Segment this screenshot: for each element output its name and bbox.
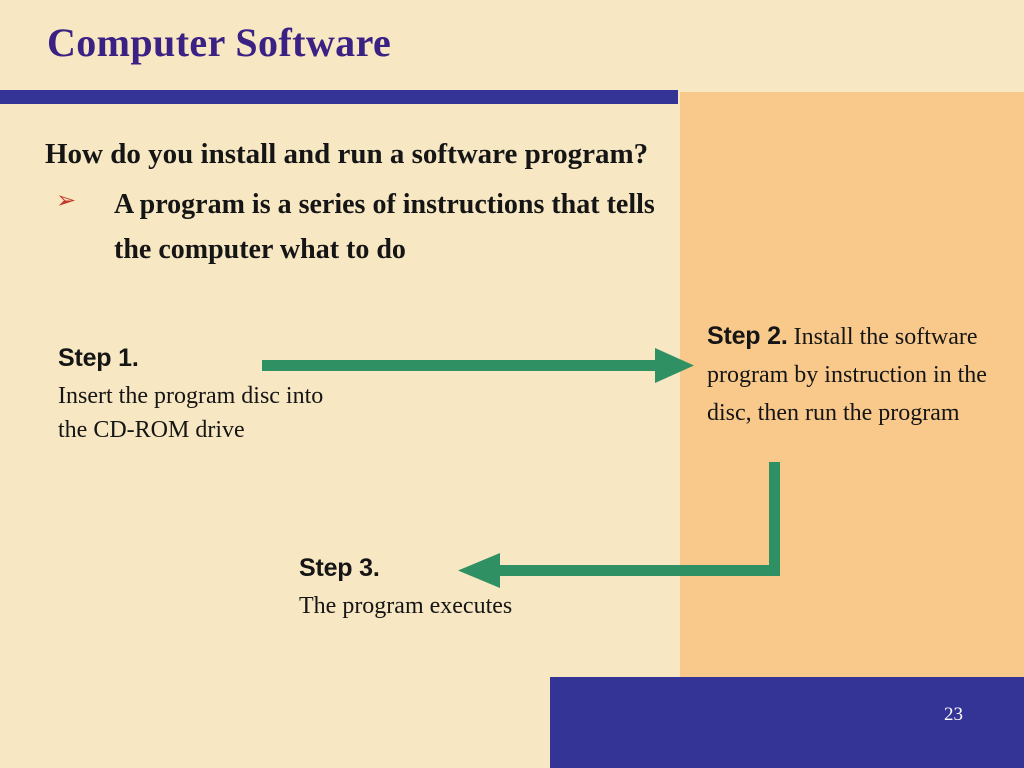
title-divider-bar — [0, 90, 678, 104]
step-3-description: The program executes — [299, 589, 629, 623]
page-number: 23 — [944, 704, 984, 726]
step-1-heading: Step 1. — [58, 344, 348, 373]
diagram-step-3: Step 3. The program executes — [299, 554, 629, 623]
arrowhead-bullet-icon: ➢ — [52, 182, 114, 218]
bullet-item-text: A program is a series of instructions th… — [114, 182, 672, 272]
slide-canvas: 23 Computer Software How do you install … — [0, 0, 1024, 768]
bullet-list-item: ➢ A program is a series of instructions … — [52, 182, 672, 272]
section-question: How do you install and run a software pr… — [45, 137, 648, 171]
step-2-heading: Step 2. — [707, 322, 788, 350]
diagram-step-1: Step 1. Insert the program disc into the… — [58, 344, 348, 447]
step-1-description: Insert the program disc into the CD-ROM … — [58, 379, 348, 447]
slide-title: Computer Software — [47, 19, 391, 67]
step-3-heading: Step 3. — [299, 554, 629, 583]
diagram-step-2: Step 2. Install the software program by … — [707, 318, 999, 434]
